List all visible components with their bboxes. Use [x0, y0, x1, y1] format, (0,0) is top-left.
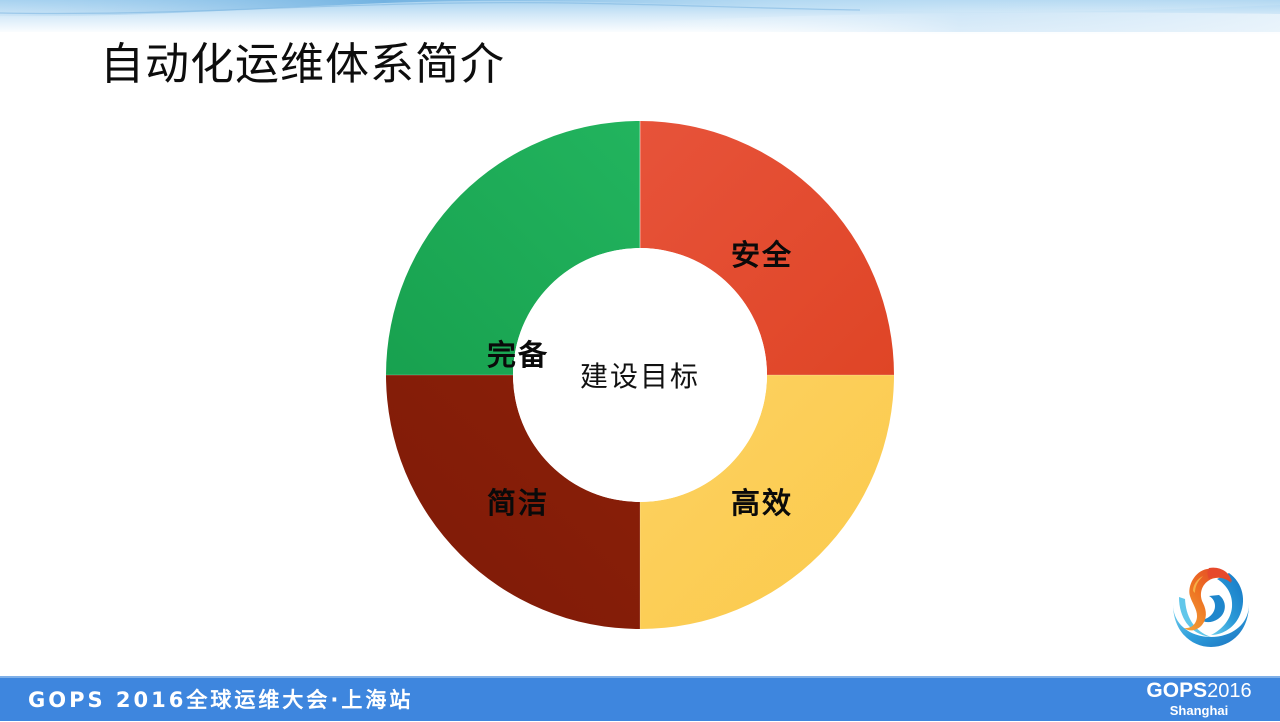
footer-brand-wordmark: GOPS2016 Shanghai — [1134, 678, 1264, 721]
page-title: 自动化运维体系简介 — [100, 34, 1000, 96]
footer-brand-line1: GOPS2016 — [1134, 678, 1264, 703]
gops-logo — [1156, 557, 1266, 677]
donut-chart: 完备 安全 高效 简洁 建设目标 — [386, 121, 894, 629]
donut-label-anquan: 安全 — [682, 232, 842, 274]
footer-brand-year: 2016 — [1207, 680, 1252, 702]
gops-swirl-icon — [1163, 557, 1259, 653]
donut-label-gaoxiao: 高效 — [682, 480, 842, 522]
footer-bar: GOPS 2016全球运维大会·上海站 GOPS2016 Shanghai — [0, 676, 1280, 721]
footer-brand-gops: GOPS — [1146, 679, 1207, 702]
donut-center-label: 建设目标 — [514, 355, 766, 395]
top-band-graphic — [0, 0, 1280, 34]
footer-brand-city: Shanghai — [1134, 703, 1264, 718]
top-decorative-band — [0, 0, 1280, 34]
footer-conference-title: GOPS 2016全球运维大会·上海站 — [28, 678, 413, 721]
donut-label-jianjie: 简洁 — [438, 480, 598, 522]
